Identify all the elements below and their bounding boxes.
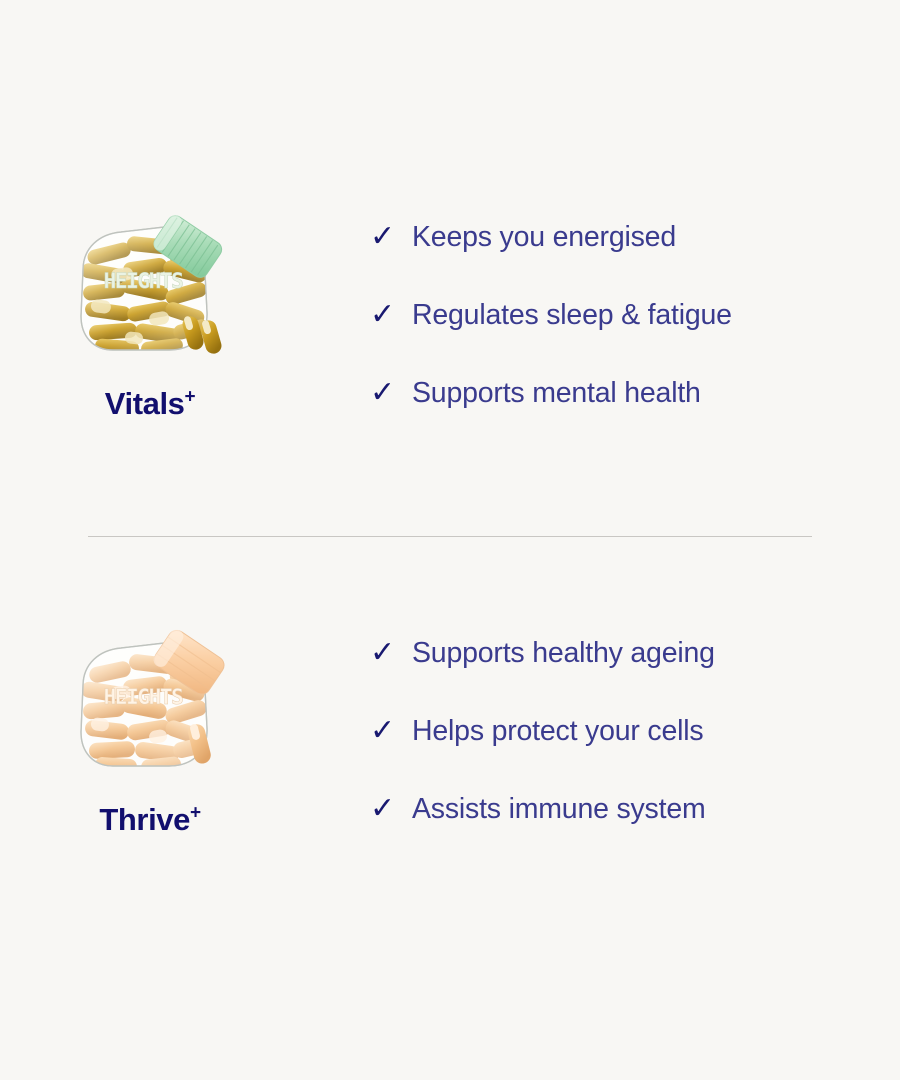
product-title-superscript-vitals: + xyxy=(185,387,196,408)
product-title-superscript-thrive: + xyxy=(190,803,201,824)
product-media-vitals: HEIGHTS Vitals+ xyxy=(0,212,300,422)
bottle-logo-text-thrive: HEIGHTS xyxy=(104,685,183,709)
section-divider xyxy=(88,536,812,537)
benefit-label: Supports healthy ageing xyxy=(412,638,715,669)
product-title-text-thrive: Thrive xyxy=(99,802,190,837)
benefits-page: HEIGHTS Vitals+ ✓ Keeps you energised xyxy=(0,0,900,1080)
product-title-thrive: Thrive+ xyxy=(99,802,200,838)
thrive-bottle-illustration: HEIGHTS xyxy=(65,628,235,778)
bottle-image-vitals: HEIGHTS xyxy=(65,212,235,362)
check-icon: ✓ xyxy=(370,378,412,408)
check-icon: ✓ xyxy=(370,794,412,824)
bottle-image-thrive: HEIGHTS xyxy=(65,628,235,778)
benefit-label: Keeps you energised xyxy=(412,222,676,253)
product-media-thrive: HEIGHTS Thrive+ xyxy=(0,628,300,838)
product-title-text-vitals: Vitals xyxy=(105,386,185,421)
benefit-label: Regulates sleep & fatigue xyxy=(412,300,732,331)
check-icon: ✓ xyxy=(370,716,412,746)
benefit-label: Helps protect your cells xyxy=(412,716,703,747)
benefits-list-thrive: ✓ Supports healthy ageing ✓ Helps protec… xyxy=(300,628,900,872)
benefit-item: ✓ Helps protect your cells xyxy=(370,716,900,794)
product-section-vitals: HEIGHTS Vitals+ ✓ Keeps you energised xyxy=(0,212,900,456)
benefit-item: ✓ Assists immune system xyxy=(370,794,900,872)
product-title-vitals: Vitals+ xyxy=(105,386,195,422)
check-icon: ✓ xyxy=(370,638,412,668)
product-section-thrive: HEIGHTS Thrive+ ✓ Supports healthy agein… xyxy=(0,628,900,872)
check-icon: ✓ xyxy=(370,222,412,252)
benefit-item: ✓ Regulates sleep & fatigue xyxy=(370,300,900,378)
vitals-bottle-illustration: HEIGHTS xyxy=(65,212,235,362)
benefit-item: ✓ Keeps you energised xyxy=(370,222,900,300)
benefit-item: ✓ Supports healthy ageing xyxy=(370,638,900,716)
benefits-list-vitals: ✓ Keeps you energised ✓ Regulates sleep … xyxy=(300,212,900,456)
benefit-label: Supports mental health xyxy=(412,378,701,409)
check-icon: ✓ xyxy=(370,300,412,330)
benefit-label: Assists immune system xyxy=(412,794,706,825)
bottle-logo-text-vitals: HEIGHTS xyxy=(104,269,183,293)
benefit-item: ✓ Supports mental health xyxy=(370,378,900,456)
